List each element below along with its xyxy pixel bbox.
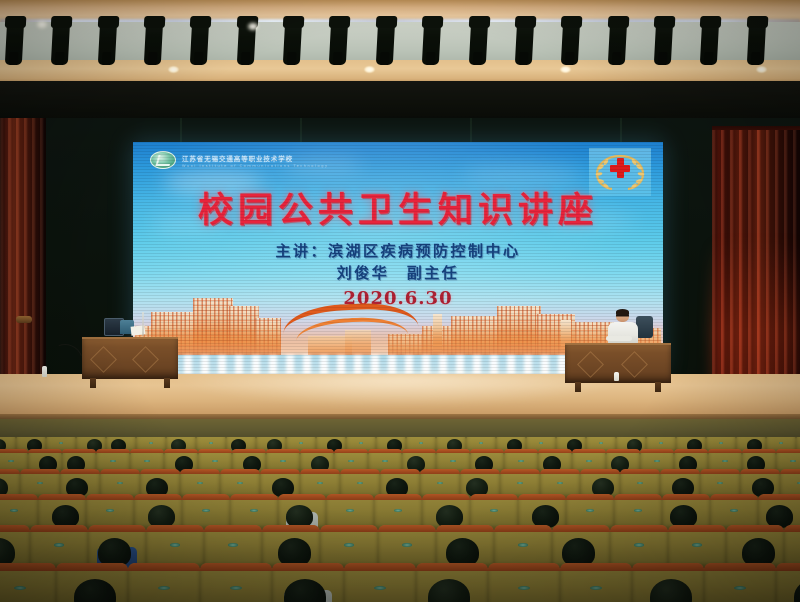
stage-spotlight	[561, 20, 580, 65]
stage-spotlight	[654, 20, 673, 65]
ceiling-downlight	[168, 66, 179, 73]
school-emblem-icon	[150, 151, 176, 169]
stage-spotlight	[283, 20, 302, 65]
stage-spotlight	[376, 20, 395, 65]
ceiling-wall-panel	[0, 22, 800, 62]
ceiling-downlight	[560, 66, 571, 73]
red-cross-icon	[610, 158, 630, 178]
ceiling-gold-band	[0, 60, 800, 82]
lecture-presenter-name: 刘俊华 副主任	[133, 262, 663, 283]
stage-spotlight	[607, 20, 626, 65]
stage-spotlight	[51, 20, 70, 65]
lecture-presenter-org: 主讲：滨湖区疾病预防控制中心	[133, 240, 663, 261]
stage-spotlight	[98, 20, 117, 65]
school-name-cn: 江苏省无锡交通高等职业技术学校	[182, 153, 329, 163]
stage-spotlight	[700, 20, 719, 65]
stage-spotlight	[329, 20, 348, 65]
seated-speaker-hair	[616, 309, 629, 315]
chair	[636, 316, 653, 338]
spotlight-glare	[36, 20, 48, 29]
stage-spotlight	[5, 20, 24, 65]
water-bottle	[614, 372, 619, 381]
school-logo: 江苏省无锡交通高等职业技术学校 Wuxi Institute of Commun…	[150, 151, 329, 169]
right-stage-curtain	[712, 130, 800, 412]
lecture-title: 校园公共卫生知识讲座	[133, 182, 663, 233]
auditorium-photo: 江苏省无锡交通高等职业技术学校 Wuxi Institute of Commun…	[0, 0, 800, 602]
left-presenter-desk	[82, 337, 178, 379]
spotlight-glare	[247, 22, 259, 31]
led-stage-screen: 江苏省无锡交通高等职业技术学校 Wuxi Institute of Commun…	[133, 142, 663, 374]
audience-seating	[0, 437, 800, 602]
seated-speaker-arm	[606, 336, 632, 341]
microphone-stand	[142, 312, 144, 336]
stage-spotlight	[746, 20, 765, 65]
ceiling-downlight	[364, 66, 375, 73]
ceiling-downlight	[756, 66, 767, 73]
school-name-en: Wuxi Institute of Communications Technol…	[182, 164, 329, 168]
stage-spotlight	[190, 20, 209, 65]
stage-spotlight	[144, 20, 163, 65]
water-bottle	[42, 366, 47, 377]
stage-spotlight	[422, 20, 441, 65]
stage-spotlight	[515, 20, 534, 65]
left-stage-curtain	[0, 118, 46, 410]
ceiling-shadow-band	[0, 81, 800, 123]
stage-spotlight	[468, 20, 487, 65]
curtain-tieback	[16, 316, 32, 323]
